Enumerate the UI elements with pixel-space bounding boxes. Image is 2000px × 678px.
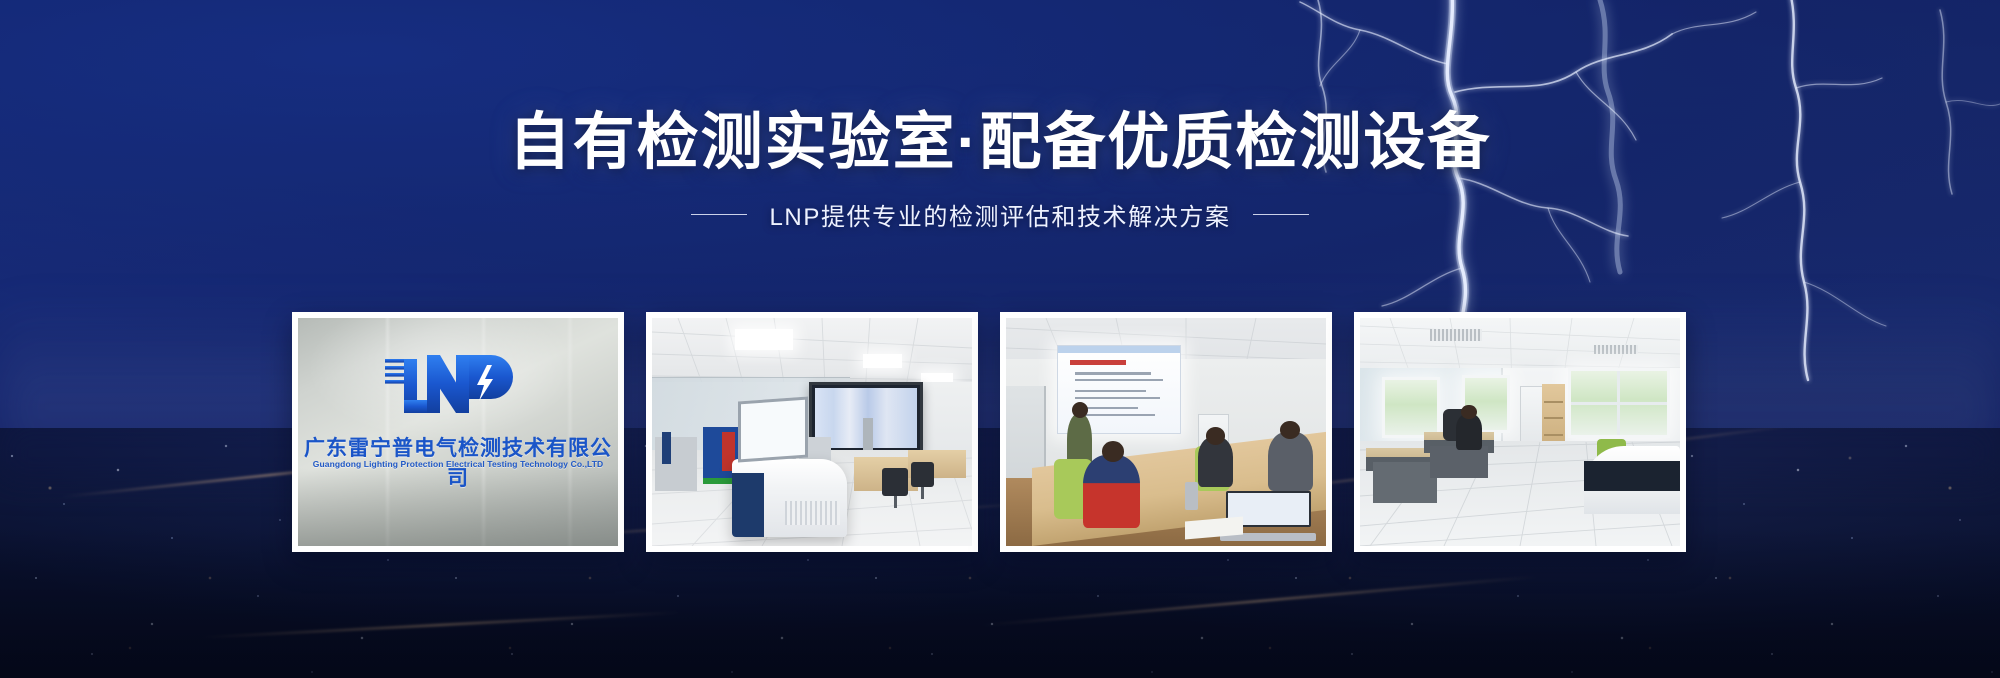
test-equipment [662,432,672,464]
reception-counter [1584,446,1680,514]
page-title: 自有检测实验室·配备优质检测设备 [0,110,2000,177]
person-head [1206,427,1225,444]
console-screen [738,396,808,462]
photo-testing-laboratory [652,318,972,546]
photo-card-training-meeting-room[interactable] [1000,312,1332,552]
headline-block: 自有检测实验室·配备优质检测设备 LNP提供专业的检测评估和技术解决方案 [0,110,2000,232]
photo-card-row: 广东雷宁普电气检测技术有限公司 Guangdong Lighting Prote… [292,312,1686,552]
person-head [1280,421,1301,439]
thermos [1185,482,1198,509]
page-subtitle: LNP提供专业的检测评估和技术解决方案 [769,197,1230,232]
person-attendee [1268,432,1313,491]
photo-card-company-logo-wall[interactable]: 广东雷宁普电气检测技术有限公司 Guangdong Lighting Prote… [292,312,624,552]
control-console [732,459,847,537]
photo-card-testing-laboratory[interactable] [646,312,978,552]
hero-banner: 自有检测实验室·配备优质检测设备 LNP提供专业的检测评估和技术解决方案 [0,0,2000,678]
divider-dash-left [691,214,747,215]
photo-training-meeting-room [1006,318,1326,546]
person-head [1072,402,1088,418]
person-head [1102,441,1124,462]
photo-card-office-area[interactable] [1354,312,1686,552]
divider-dash-right [1253,214,1309,215]
person-worker [1456,414,1482,450]
photo-office-area [1360,318,1680,546]
subtitle-row: LNP提供专业的检测评估和技术解决方案 [0,197,2000,232]
lnp-logo-icon [383,353,533,419]
chair [882,468,908,495]
person-head [1461,405,1477,420]
photo-company-logo-wall: 广东雷宁普电气检测技术有限公司 Guangdong Lighting Prote… [298,318,618,546]
person-attendee [1083,455,1141,528]
desk-pedestal [1430,446,1488,478]
desk-pedestal [1373,462,1437,503]
test-equipment [863,418,873,450]
company-name-en: Guangdong Lighting Protection Electrical… [298,459,618,469]
chair [911,462,933,487]
